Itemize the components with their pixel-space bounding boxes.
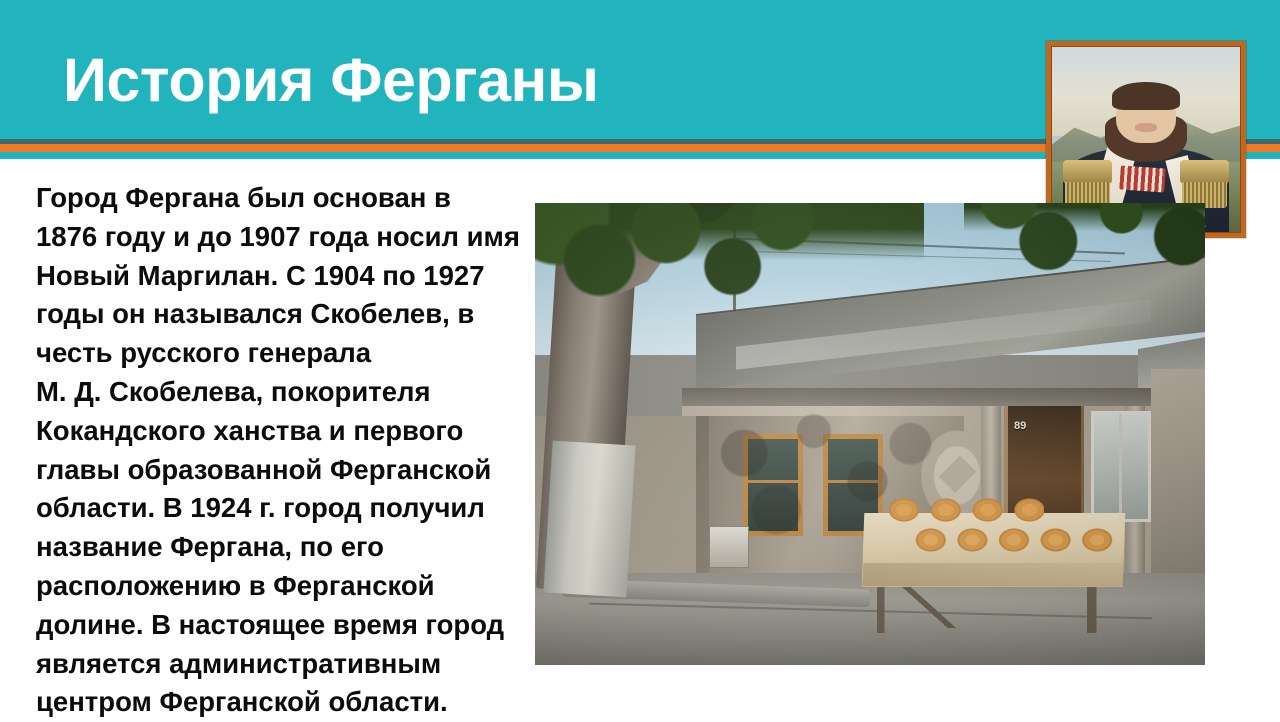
photo-flatbreads-back-row — [883, 494, 1044, 526]
slide: История Ферганы Город Фергана был основа… — [0, 0, 1280, 720]
photo-house-number: 89 — [1014, 420, 1026, 432]
body-line: Кокандского ханства и первого — [36, 412, 524, 451]
photo-bench-brace — [883, 586, 977, 628]
body-line: М. Д. Скобелева, покорителя — [36, 373, 524, 412]
body-line: честь русского генерала — [36, 334, 524, 373]
body-line: главы образованной Ферганской — [36, 451, 524, 490]
photo-tree-whitewash — [544, 441, 636, 598]
body-line: области. В 1924 г. город получил — [36, 489, 524, 528]
portrait-epaulette-right — [1180, 160, 1229, 184]
body-line: 1876 году и до 1907 года носил имя — [36, 218, 524, 257]
body-line: годы он назывался Скобелев, в — [36, 295, 524, 334]
body-line: расположению в Ферганской — [36, 567, 524, 606]
body-line: долине. В настоящее время город — [36, 606, 524, 645]
portrait-hair — [1112, 82, 1180, 110]
body-line: центром Ферганской области. — [36, 683, 524, 722]
photo-bench-cloth-fold — [863, 563, 1125, 586]
portrait-epaulette-left — [1063, 160, 1112, 184]
photo-interior-window — [1091, 411, 1151, 522]
body-line: является административным — [36, 645, 524, 684]
page-title: История Ферганы — [63, 48, 598, 112]
portrait-medals — [1119, 166, 1166, 193]
body-line: название Фергана, по его — [36, 528, 524, 567]
body-line: Новый Маргилан. С 1904 по 1927 — [36, 257, 524, 296]
portrait-mouth — [1135, 123, 1158, 132]
body-line: Город Фергана был основан в — [36, 179, 524, 218]
photo-flatbreads-front-row — [910, 524, 1118, 556]
photo-foliage-right — [964, 203, 1205, 277]
photo-old-house-fergana: 89 — [535, 203, 1205, 665]
body-paragraph: Город Фергана был основан в 1876 году и … — [36, 179, 524, 722]
photo-foliage-left — [535, 203, 924, 323]
